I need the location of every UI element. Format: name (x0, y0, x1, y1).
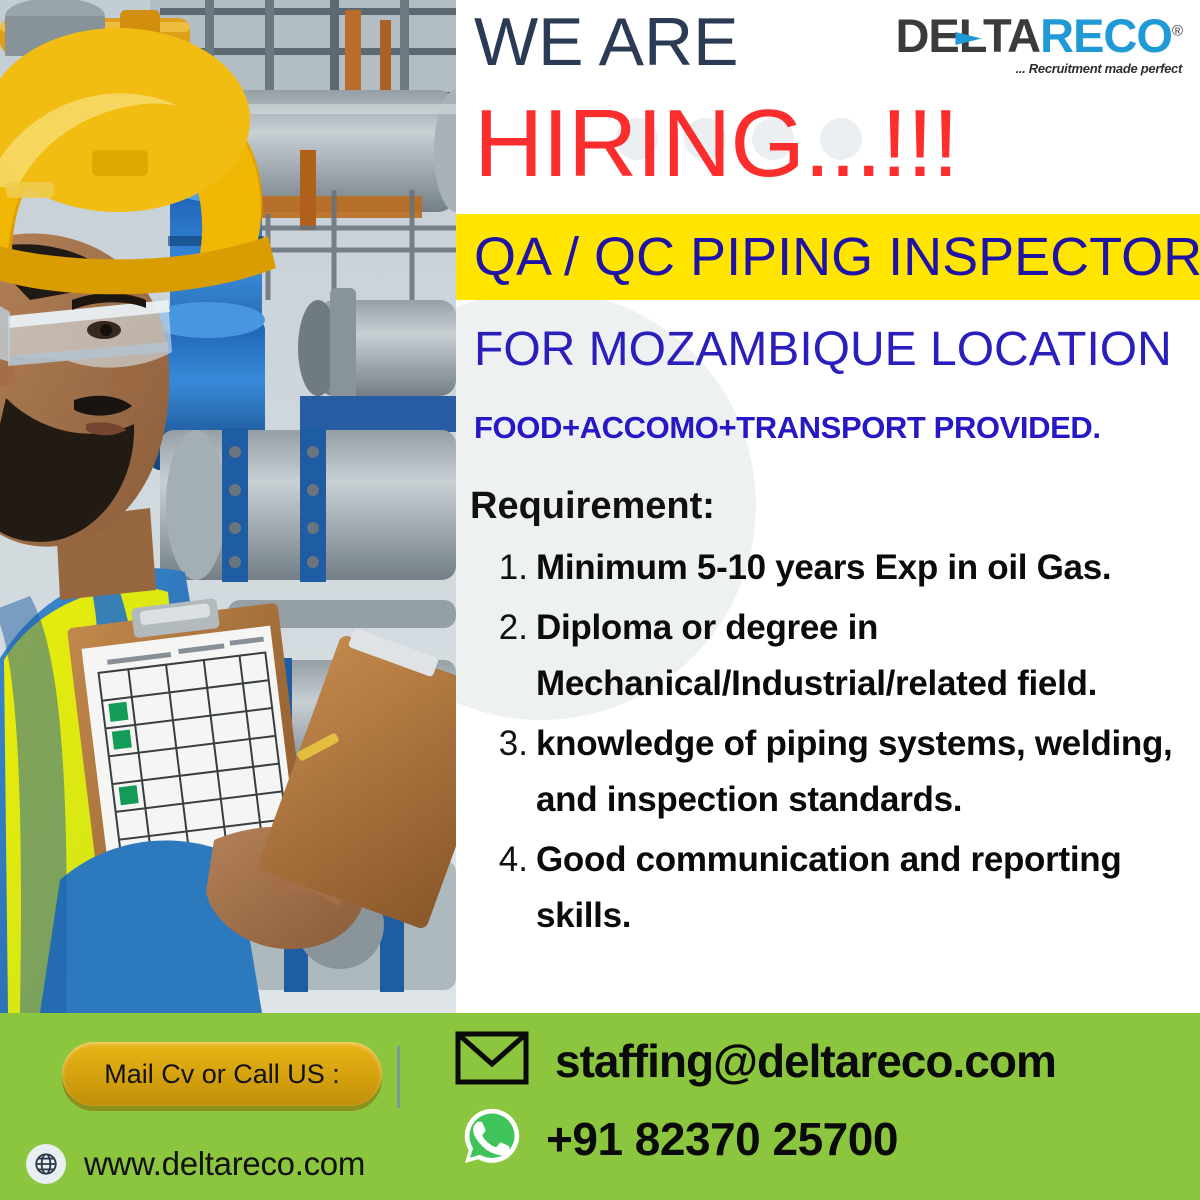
logo-tagline: ... Recruitment made perfect (895, 61, 1182, 76)
job-title-banner: QA / QC PIPING INSPECTOR (456, 214, 1200, 300)
requirement-item: 3. knowledge of piping systems, welding,… (470, 716, 1198, 828)
requirement-text: knowledge of piping systems, welding, an… (536, 716, 1198, 828)
job-title-text: QA / QC PIPING INSPECTOR (474, 226, 1200, 288)
globe-icon (26, 1144, 66, 1184)
logo-reco-text: RECO (1040, 9, 1172, 62)
requirements-heading: Requirement: (470, 487, 715, 525)
requirement-number: 3. (470, 716, 536, 772)
job-location: FOR MOZAMBIQUE LOCATION (474, 326, 1172, 374)
requirement-item: 1. Minimum 5-10 years Exp in oil Gas. (470, 540, 1198, 596)
registered-mark: ® (1172, 22, 1182, 39)
requirement-text: Good communication and reporting skills. (536, 832, 1198, 944)
logo-wordmark: DELTARECO® (895, 12, 1182, 59)
requirement-number: 1. (470, 540, 536, 596)
hiring-poster: DELTARECO® ... Recruitment made perfect … (0, 0, 1200, 1200)
requirements-list: 1. Minimum 5-10 years Exp in oil Gas. 2.… (470, 540, 1198, 948)
requirement-item: 4. Good communication and reporting skil… (470, 832, 1198, 944)
company-logo[interactable]: DELTARECO® ... Recruitment made perfect (895, 12, 1182, 76)
requirement-item: 2. Diploma or degree in Mechanical/Indus… (470, 600, 1198, 712)
requirement-text: Diploma or degree in Mechanical/Industri… (536, 600, 1198, 712)
phone-row[interactable]: +91 82370 25700 (462, 1106, 898, 1171)
content-panel: DELTARECO® ... Recruitment made perfect … (456, 0, 1200, 1013)
phone-number[interactable]: +91 82370 25700 (546, 1112, 898, 1166)
whatsapp-icon (462, 1106, 522, 1171)
requirement-number: 2. (470, 600, 536, 656)
job-perks: FOOD+ACCOMO+TRANSPORT PROVIDED. (474, 412, 1101, 443)
email-row[interactable]: staffing@deltareco.com (455, 1031, 1056, 1090)
headline-hiring: HIRING...!!! (474, 96, 958, 192)
mail-cv-button[interactable]: Mail Cv or Call US : (62, 1042, 382, 1106)
worker-photo (0, 0, 456, 1013)
requirement-number: 4. (470, 832, 536, 888)
footer-divider (397, 1046, 400, 1108)
website-url[interactable]: www.deltareco.com (84, 1145, 365, 1183)
email-address[interactable]: staffing@deltareco.com (555, 1034, 1056, 1088)
headline-we-are: WE ARE (474, 8, 739, 76)
mail-cv-button-label: Mail Cv or Call US : (104, 1059, 340, 1090)
requirement-text: Minimum 5-10 years Exp in oil Gas. (536, 540, 1198, 596)
envelope-icon (455, 1031, 529, 1090)
website-row[interactable]: www.deltareco.com (26, 1144, 365, 1184)
